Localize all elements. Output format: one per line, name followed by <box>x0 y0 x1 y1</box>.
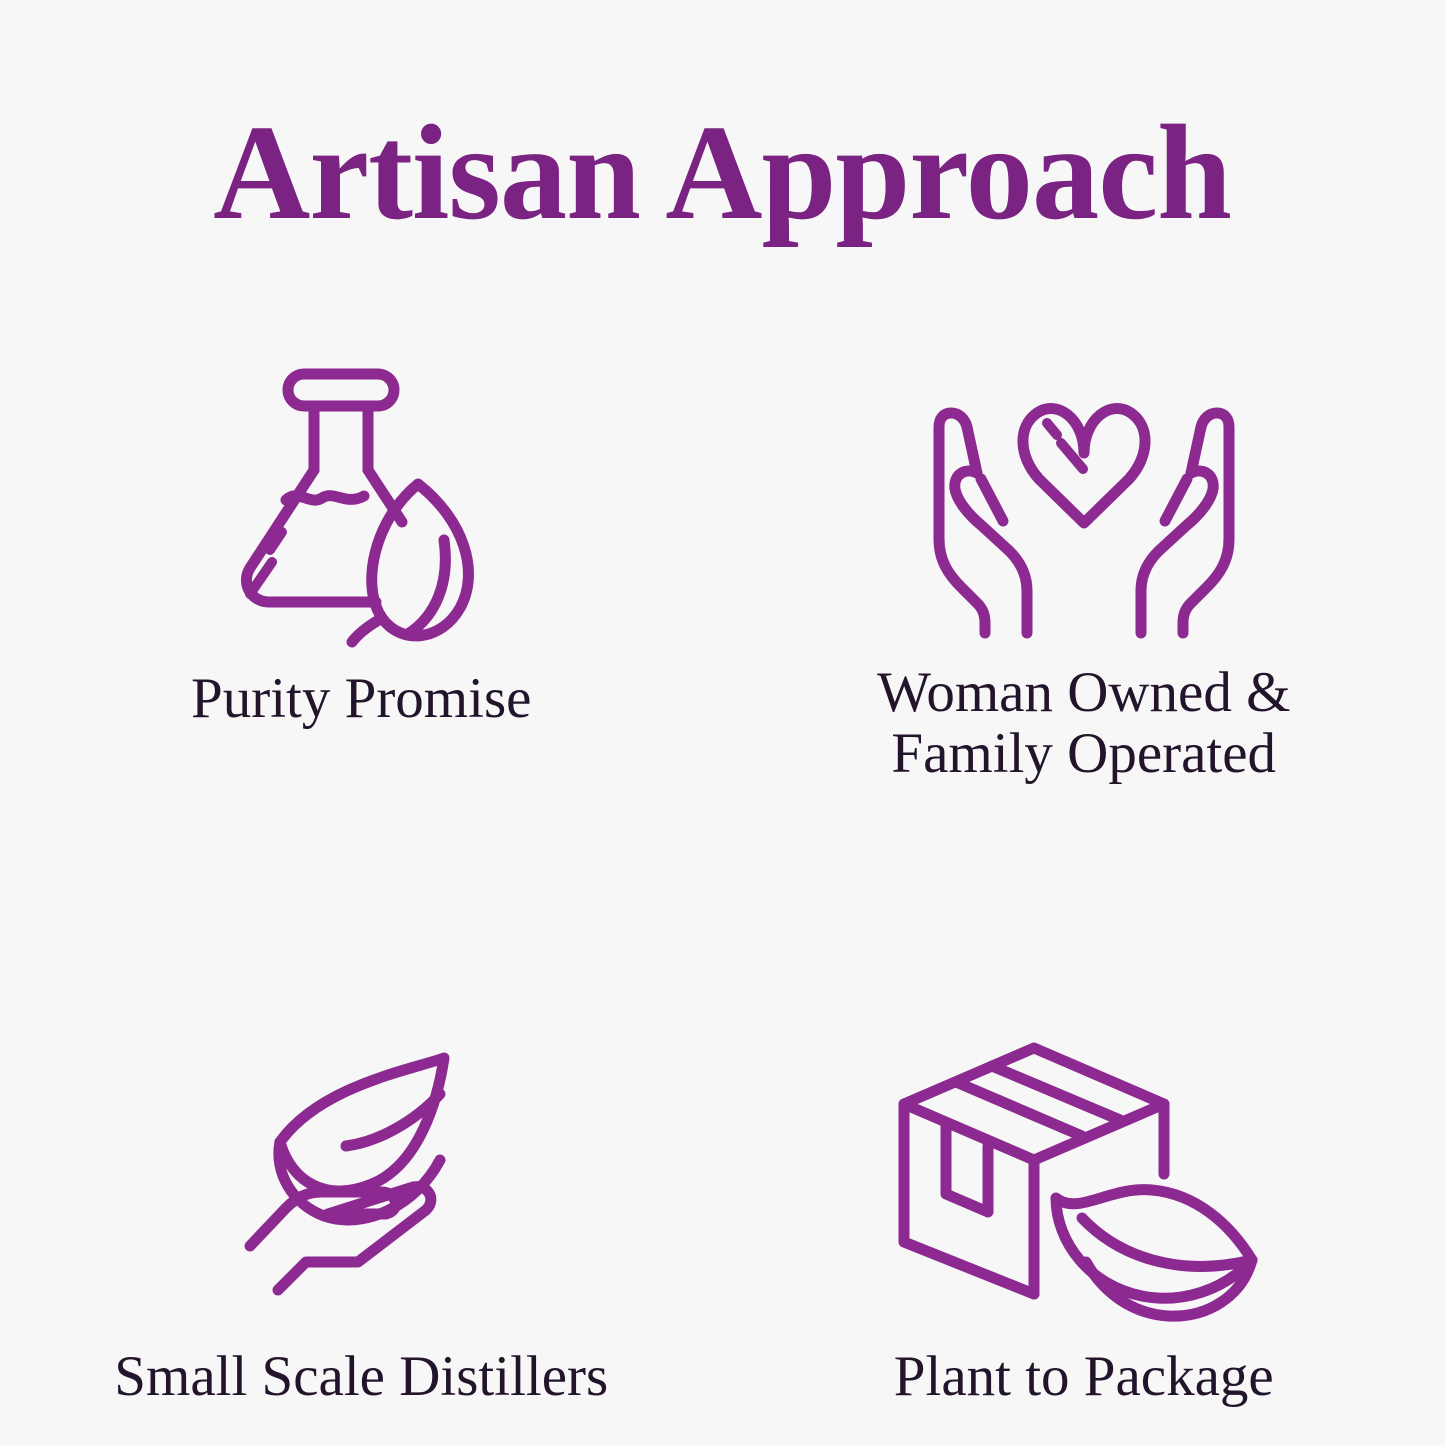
feature-item-woman-owned: Woman Owned & Family Operated <box>723 330 1445 784</box>
feature-label-plant-to-package: Plant to Package <box>894 1346 1274 1408</box>
page-title: Artisan Approach <box>214 104 1232 243</box>
feature-item-small-scale-distillers: Small Scale Distillers <box>0 784 723 1408</box>
feature-label-purity-promise: Purity Promise <box>191 668 531 730</box>
feature-label-small-scale-distillers: Small Scale Distillers <box>114 1346 608 1408</box>
page-title-container: Artisan Approach <box>0 104 1445 243</box>
flask-leaf-icon <box>211 352 511 642</box>
feature-item-purity-promise: Purity Promise <box>0 330 723 784</box>
feature-item-plant-to-package: Plant to Package <box>723 784 1445 1408</box>
box-leaf-icon <box>884 1022 1284 1312</box>
feature-grid: Purity Promise <box>0 330 1445 1390</box>
feature-label-woman-owned: Woman Owned & Family Operated <box>877 662 1290 784</box>
artisan-approach-graphic: Artisan Approach <box>0 0 1445 1445</box>
leaf-in-hand-icon <box>211 1022 511 1312</box>
hands-heart-icon <box>884 352 1284 642</box>
